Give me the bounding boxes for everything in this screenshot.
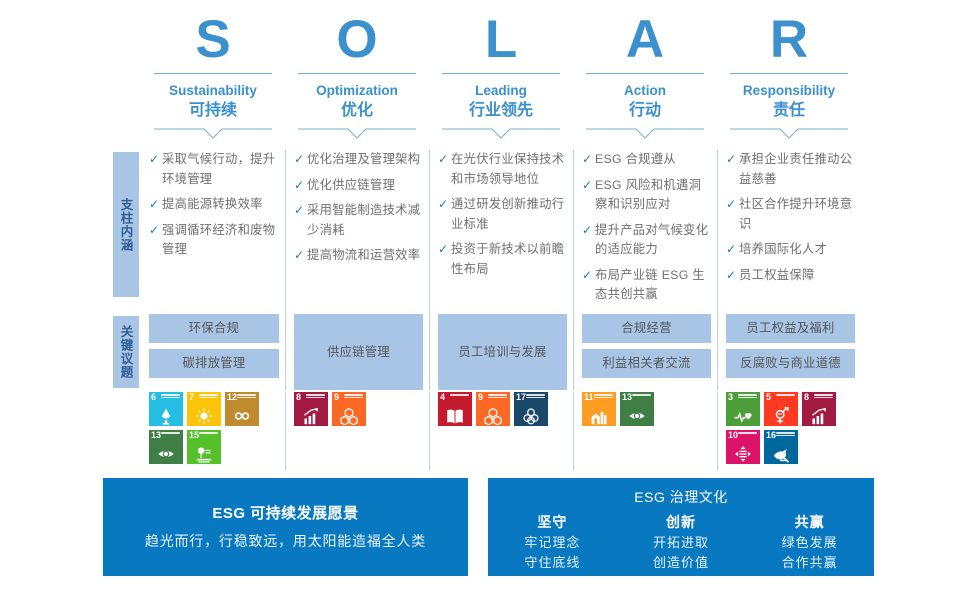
key-issues-a: 合规经营利益相关者交流 bbox=[573, 314, 717, 390]
gender-equal-icon bbox=[764, 406, 798, 425]
solar-header-s: SSustainability可持续 bbox=[141, 8, 285, 140]
culture-group: 创新开拓进取创造价值 bbox=[617, 512, 746, 573]
culture-groups: 坚守牢记理念守住底线创新开拓进取创造价值共赢绿色发展合作共赢 bbox=[488, 512, 874, 573]
sdg-label-lines bbox=[199, 394, 218, 400]
culture-group-heading: 创新 bbox=[617, 512, 746, 533]
bullet-text: 强调循环经济和废物管理 bbox=[162, 221, 279, 260]
bullet-text: 培养国际化人才 bbox=[739, 240, 855, 260]
sdg-icons-s: 67121315 bbox=[141, 392, 285, 470]
sdg-goal-10-icon[interactable]: 10 bbox=[726, 430, 760, 464]
growth-chart-icon bbox=[802, 406, 836, 425]
solar-header-a: AAction行动 bbox=[573, 8, 717, 140]
solar-esg-framework-infographic: SSustainability可持续OOptimization优化LLeadin… bbox=[0, 0, 960, 600]
cubes-icon bbox=[476, 406, 510, 425]
check-icon: ✓ bbox=[149, 150, 162, 169]
key-issues-s: 环保合规碳排放管理 bbox=[141, 314, 285, 390]
bullet-text: 投资于新技术以前瞻性布局 bbox=[451, 240, 567, 279]
key-issue-row: 环保合规碳排放管理供应链管理员工培训与发展合规经营利益相关者交流员工权益及福利反… bbox=[141, 314, 861, 390]
sdg-number: 13 bbox=[622, 393, 632, 402]
check-icon: ✓ bbox=[438, 150, 451, 169]
solar-letter: O bbox=[336, 8, 377, 71]
sdg-goal-12-icon[interactable]: 12 bbox=[225, 392, 259, 426]
bullet-text: 优化供应链管理 bbox=[307, 176, 423, 196]
vision-subtitle: 趋光而行，行稳致远，用太阳能造福全人类 bbox=[145, 530, 426, 552]
open-book-icon bbox=[438, 406, 472, 425]
key-issues-r: 员工权益及福利反腐败与商业道德 bbox=[717, 314, 861, 390]
sdg-label-lines bbox=[161, 394, 180, 400]
culture-group-line: 守住底线 bbox=[488, 553, 617, 573]
esg-vision-banner: ESG 可持续发展愿景 趋光而行，行稳致远，用太阳能造福全人类 bbox=[103, 478, 468, 576]
sdg-label-lines bbox=[632, 394, 651, 397]
heartbeat-icon bbox=[726, 406, 760, 425]
check-icon: ✓ bbox=[438, 195, 451, 214]
sdg-number: 16 bbox=[766, 431, 776, 440]
key-issues-l: 员工培训与发展 bbox=[429, 314, 573, 390]
key-issue-chip: 反腐败与商业道德 bbox=[726, 349, 855, 378]
check-icon: ✓ bbox=[438, 240, 451, 259]
key-issue-chip: 员工培训与发展 bbox=[438, 314, 567, 390]
sdg-goal-11-icon[interactable]: 11 bbox=[582, 392, 616, 426]
pillar-name-en: Leading bbox=[475, 82, 527, 99]
infinity-icon bbox=[225, 406, 259, 425]
sdg-label-lines bbox=[199, 432, 218, 435]
sdg-icon-row: 6712131589491711133581016 bbox=[141, 392, 861, 470]
sdg-label-lines bbox=[738, 394, 757, 400]
solar-header-row: SSustainability可持续OOptimization优化LLeadin… bbox=[141, 8, 861, 140]
pillar-name-en: Responsibility bbox=[743, 82, 835, 99]
key-issue-chip: 供应链管理 bbox=[294, 314, 423, 390]
sdg-number: 8 bbox=[296, 393, 301, 402]
sdg-number: 12 bbox=[227, 393, 237, 402]
bullet-item: ✓强调循环经济和废物管理 bbox=[149, 221, 279, 260]
culture-group-line: 创造价值 bbox=[617, 553, 746, 573]
check-icon: ✓ bbox=[726, 195, 739, 214]
bullet-text: ESG 合规遵从 bbox=[595, 150, 711, 170]
header-notch-divider bbox=[442, 128, 560, 140]
header-notch-divider bbox=[154, 128, 272, 140]
header-notch-divider bbox=[298, 128, 416, 140]
sdg-goal-7-icon[interactable]: 7 bbox=[187, 392, 221, 426]
city-icon bbox=[582, 406, 616, 425]
sdg-number: 3 bbox=[728, 393, 733, 402]
sdg-icons-r: 3581016 bbox=[717, 392, 861, 470]
sdg-number: 7 bbox=[189, 393, 194, 402]
eye-earth-icon bbox=[620, 406, 654, 425]
sdg-number: 9 bbox=[478, 393, 483, 402]
bullet-text: 提高物流和运营效率 bbox=[307, 246, 423, 266]
check-icon: ✓ bbox=[149, 195, 162, 214]
check-icon: ✓ bbox=[294, 150, 307, 169]
header-rule bbox=[586, 73, 704, 78]
check-icon: ✓ bbox=[294, 201, 307, 220]
key-issues-o: 供应链管理 bbox=[285, 314, 429, 390]
sdg-goal-6-icon[interactable]: 6 bbox=[149, 392, 183, 426]
solar-header-o: OOptimization优化 bbox=[285, 8, 429, 140]
sdg-label-lines bbox=[738, 432, 757, 435]
culture-group-line: 开拓进取 bbox=[617, 533, 746, 553]
sdg-label-lines bbox=[594, 394, 613, 400]
sdg-number: 11 bbox=[584, 393, 594, 402]
sdg-label-lines bbox=[776, 394, 795, 397]
eye-earth-icon bbox=[149, 444, 183, 463]
sdg-goal-8-icon[interactable]: 8 bbox=[802, 392, 836, 426]
sdg-goal-16-icon[interactable]: 16 bbox=[764, 430, 798, 464]
sdg-label-lines bbox=[237, 394, 256, 400]
sdg-number: 15 bbox=[189, 431, 199, 440]
check-icon: ✓ bbox=[294, 246, 307, 265]
sdg-number: 5 bbox=[766, 393, 771, 402]
bullet-item: ✓提高能源转换效率 bbox=[149, 195, 279, 215]
pillar-name-cn: 行动 bbox=[629, 101, 661, 121]
check-icon: ✓ bbox=[582, 150, 595, 169]
check-icon: ✓ bbox=[582, 266, 595, 285]
pillar-name-cn: 优化 bbox=[341, 101, 373, 121]
key-issue-chip: 利益相关者交流 bbox=[582, 349, 711, 378]
bullet-item: ✓布局产业链 ESG 生态共创共赢 bbox=[582, 266, 711, 305]
bullet-text: 采用智能制造技术减少消耗 bbox=[307, 201, 423, 240]
bullet-item: ✓承担企业责任推动公益慈善 bbox=[726, 150, 855, 189]
bullet-item: ✓优化治理及管理架构 bbox=[294, 150, 423, 170]
bullet-text: 通过研发创新推动行业标准 bbox=[451, 195, 567, 234]
bullet-item: ✓ESG 合规遵从 bbox=[582, 150, 711, 170]
sdg-goal-3-icon[interactable]: 3 bbox=[726, 392, 760, 426]
bullet-text: 优化治理及管理架构 bbox=[307, 150, 423, 170]
pillar-name-cn: 可持续 bbox=[189, 101, 237, 121]
bullet-text: 承担企业责任推动公益慈善 bbox=[739, 150, 855, 189]
sdg-label-lines bbox=[306, 394, 325, 400]
bullet-item: ✓ESG 风险和机遇洞察和识别应对 bbox=[582, 176, 711, 215]
side-label-pillar: 支柱内涵 bbox=[113, 152, 139, 297]
check-icon: ✓ bbox=[726, 150, 739, 169]
bullet-text: 布局产业链 ESG 生态共创共赢 bbox=[595, 266, 711, 305]
pillar-name-cn: 行业领先 bbox=[469, 101, 533, 121]
bullet-item: ✓员工权益保障 bbox=[726, 266, 855, 286]
bullet-text: 在光伏行业保持技术和市场领导地位 bbox=[451, 150, 567, 189]
key-issue-chip: 员工权益及福利 bbox=[726, 314, 855, 343]
culture-group-line: 绿色发展 bbox=[745, 533, 874, 553]
sdg-label-lines bbox=[526, 394, 545, 400]
pillar-name-en: Sustainability bbox=[169, 82, 257, 99]
culture-group: 共赢绿色发展合作共赢 bbox=[745, 512, 874, 573]
sdg-label-lines bbox=[344, 394, 363, 400]
vision-title: ESG 可持续发展愿景 bbox=[212, 503, 358, 525]
sdg-icons-l: 4917 bbox=[429, 392, 573, 470]
key-issue-chip: 环保合规 bbox=[149, 314, 279, 343]
sdg-label-lines bbox=[161, 432, 180, 435]
equal-arrows-icon bbox=[726, 444, 760, 463]
sdg-label-lines bbox=[488, 394, 507, 400]
bullet-text: 提高能源转换效率 bbox=[162, 195, 279, 215]
sdg-goal-8-icon[interactable]: 8 bbox=[294, 392, 328, 426]
sdg-goal-9-icon[interactable]: 9 bbox=[476, 392, 510, 426]
check-icon: ✓ bbox=[149, 221, 162, 240]
bullet-item: ✓提高物流和运营效率 bbox=[294, 246, 423, 266]
solar-letter: S bbox=[195, 8, 230, 71]
culture-group-heading: 坚守 bbox=[488, 512, 617, 533]
sdg-number: 8 bbox=[804, 393, 809, 402]
bullet-item: ✓采取气候行动，提升环境管理 bbox=[149, 150, 279, 189]
pillar-name-cn: 责任 bbox=[773, 101, 805, 121]
sdg-icons-a: 1113 bbox=[573, 392, 717, 470]
solar-letter: R bbox=[770, 8, 808, 71]
check-icon: ✓ bbox=[726, 240, 739, 259]
dove-gavel-icon bbox=[764, 444, 798, 463]
sdg-goal-13-icon[interactable]: 13 bbox=[149, 430, 183, 464]
rings-icon bbox=[514, 406, 548, 425]
esg-culture-banner: ESG 治理文化 坚守牢记理念守住底线创新开拓进取创造价值共赢绿色发展合作共赢 bbox=[488, 478, 874, 576]
sdg-goal-9-icon[interactable]: 9 bbox=[332, 392, 366, 426]
sdg-number: 10 bbox=[728, 431, 738, 440]
culture-group: 坚守牢记理念守住底线 bbox=[488, 512, 617, 573]
culture-group-heading: 共赢 bbox=[745, 512, 874, 533]
bullet-item: ✓社区合作提升环境意识 bbox=[726, 195, 855, 234]
culture-title: ESG 治理文化 bbox=[488, 486, 874, 508]
check-icon: ✓ bbox=[582, 176, 595, 195]
bullet-item: ✓培养国际化人才 bbox=[726, 240, 855, 260]
sdg-goal-5-icon[interactable]: 5 bbox=[764, 392, 798, 426]
sdg-number: 9 bbox=[334, 393, 339, 402]
sdg-number: 17 bbox=[516, 393, 526, 402]
header-rule bbox=[154, 73, 272, 78]
bullet-item: ✓提升产品对气候变化的适应能力 bbox=[582, 221, 711, 260]
bullet-text: ESG 风险和机遇洞察和识别应对 bbox=[595, 176, 711, 215]
key-issue-chip: 合规经营 bbox=[582, 314, 711, 343]
bullet-text: 社区合作提升环境意识 bbox=[739, 195, 855, 234]
key-issue-chip: 碳排放管理 bbox=[149, 349, 279, 378]
sdg-goal-4-icon[interactable]: 4 bbox=[438, 392, 472, 426]
bullet-item: ✓通过研发创新推动行业标准 bbox=[438, 195, 567, 234]
sdg-icons-o: 89 bbox=[285, 392, 429, 470]
growth-chart-icon bbox=[294, 406, 328, 425]
cubes-icon bbox=[332, 406, 366, 425]
header-notch-divider bbox=[586, 128, 704, 140]
pillar-name-en: Action bbox=[624, 82, 666, 99]
header-rule bbox=[730, 73, 848, 78]
bullet-text: 员工权益保障 bbox=[739, 266, 855, 286]
check-icon: ✓ bbox=[726, 266, 739, 285]
solar-letter: A bbox=[626, 8, 664, 71]
water-droplet-icon bbox=[149, 406, 183, 425]
sdg-goal-13-icon[interactable]: 13 bbox=[620, 392, 654, 426]
sdg-label-lines bbox=[450, 394, 469, 397]
header-rule bbox=[298, 73, 416, 78]
check-icon: ✓ bbox=[294, 176, 307, 195]
sdg-goal-15-icon[interactable]: 15 bbox=[187, 430, 221, 464]
pillar-name-en: Optimization bbox=[316, 82, 398, 99]
bullet-item: ✓在光伏行业保持技术和市场领导地位 bbox=[438, 150, 567, 189]
bullet-text: 提升产品对气候变化的适应能力 bbox=[595, 221, 711, 260]
bullet-item: ✓优化供应链管理 bbox=[294, 176, 423, 196]
culture-group-line: 合作共赢 bbox=[745, 553, 874, 573]
solar-header-r: RResponsibility责任 bbox=[717, 8, 861, 140]
sdg-number: 13 bbox=[151, 431, 161, 440]
sdg-number: 4 bbox=[440, 393, 445, 402]
sdg-label-lines bbox=[776, 432, 795, 438]
side-label-key-issue: 关键议题 bbox=[113, 316, 139, 388]
sun-icon bbox=[187, 406, 221, 425]
sdg-number: 6 bbox=[151, 393, 156, 402]
culture-group-line: 牢记理念 bbox=[488, 533, 617, 553]
bullet-item: ✓投资于新技术以前瞻性布局 bbox=[438, 240, 567, 279]
sdg-label-lines bbox=[814, 394, 833, 400]
bullet-item: ✓采用智能制造技术减少消耗 bbox=[294, 201, 423, 240]
header-rule bbox=[442, 73, 560, 78]
solar-letter: L bbox=[485, 8, 517, 71]
check-icon: ✓ bbox=[582, 221, 595, 240]
solar-header-l: LLeading行业领先 bbox=[429, 8, 573, 140]
tree-bird-icon bbox=[187, 444, 221, 463]
sdg-goal-17-icon[interactable]: 17 bbox=[514, 392, 548, 426]
header-notch-divider bbox=[730, 128, 848, 140]
bullet-text: 采取气候行动，提升环境管理 bbox=[162, 150, 279, 189]
